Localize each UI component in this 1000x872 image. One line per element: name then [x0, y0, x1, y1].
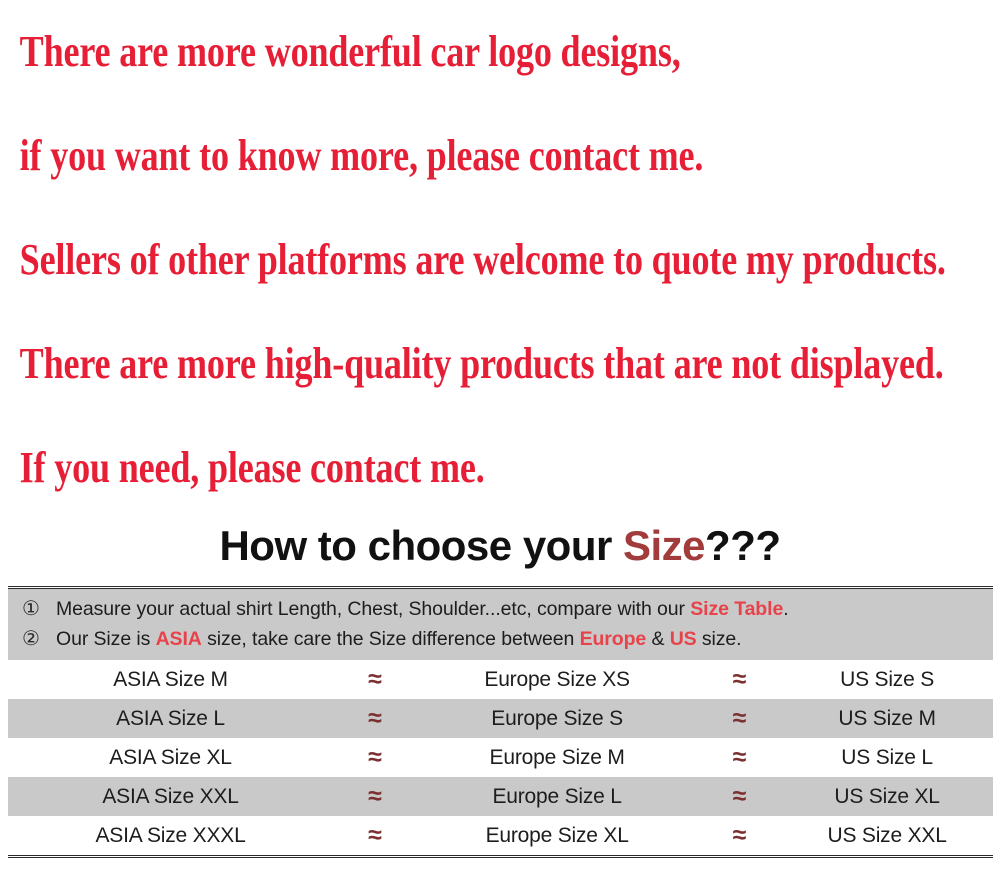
- page-title-highlight: Size: [623, 522, 705, 569]
- promo-line-5: If you need, please contact me.: [0, 416, 820, 520]
- cell-europe-size: Europe Size L: [417, 785, 698, 809]
- approximately-equal-icon: ≈: [333, 706, 417, 731]
- table-row: ASIA Size XL≈Europe Size M≈US Size L: [8, 738, 993, 777]
- emphasised-term: Size Table: [690, 598, 783, 620]
- page-title-prefix: How to choose your: [219, 522, 623, 569]
- emphasised-term: ASIA: [156, 628, 202, 650]
- cell-us-size: US Size XL: [781, 785, 993, 809]
- promo-line-1: There are more wonderful car logo design…: [0, 0, 820, 104]
- size-note-2: ② Our Size is ASIA size, take care the S…: [8, 624, 993, 654]
- size-note-2-number: ②: [22, 624, 56, 654]
- approximately-equal-icon: ≈: [333, 784, 417, 809]
- cell-europe-size: Europe Size S: [417, 707, 698, 731]
- promo-line-2: if you want to know more, please contact…: [0, 104, 820, 208]
- cell-europe-size: Europe Size M: [417, 746, 698, 770]
- size-table-rows: ASIA Size M≈Europe Size XS≈US Size SASIA…: [8, 660, 993, 855]
- cell-europe-size: Europe Size XS: [417, 668, 698, 692]
- approximately-equal-icon: ≈: [333, 745, 417, 770]
- size-note-1-text: Measure your actual shirt Length, Chest,…: [56, 594, 789, 624]
- emphasised-term: US: [670, 628, 697, 650]
- note-text-fragment: Measure your actual shirt Length, Chest,…: [56, 598, 690, 620]
- promo-line-3: Sellers of other platforms are welcome t…: [0, 208, 820, 312]
- cell-europe-size: Europe Size XL: [417, 824, 698, 848]
- note-text-fragment: &: [646, 628, 670, 650]
- size-conversion-table: ① Measure your actual shirt Length, Ches…: [8, 586, 993, 858]
- approximately-equal-icon: ≈: [697, 706, 781, 731]
- size-notes-block: ① Measure your actual shirt Length, Ches…: [8, 589, 993, 660]
- page-title: How to choose your Size???: [0, 522, 1000, 570]
- emphasised-term: Europe: [580, 628, 647, 650]
- table-row: ASIA Size L≈Europe Size S≈US Size M: [8, 699, 993, 738]
- promo-line-4: There are more high-quality products tha…: [0, 312, 820, 416]
- table-row: ASIA Size M≈Europe Size XS≈US Size S: [8, 660, 993, 699]
- approximately-equal-icon: ≈: [697, 823, 781, 848]
- table-row: ASIA Size XXL≈Europe Size L≈US Size XL: [8, 777, 993, 816]
- page-title-suffix: ???: [705, 522, 780, 569]
- note-text-fragment: size.: [697, 628, 742, 650]
- note-text-fragment: Our Size is: [56, 628, 156, 650]
- cell-asia-size: ASIA Size XXL: [8, 785, 333, 809]
- cell-asia-size: ASIA Size M: [8, 668, 333, 692]
- size-note-2-text: Our Size is ASIA size, take care the Siz…: [56, 624, 742, 654]
- approximately-equal-icon: ≈: [697, 745, 781, 770]
- cell-us-size: US Size S: [781, 668, 993, 692]
- promo-message-block: There are more wonderful car logo design…: [0, 0, 1000, 520]
- size-guide-page: There are more wonderful car logo design…: [0, 0, 1000, 872]
- cell-asia-size: ASIA Size L: [8, 707, 333, 731]
- cell-us-size: US Size L: [781, 746, 993, 770]
- note-text-fragment: size, take care the Size difference betw…: [202, 628, 580, 650]
- approximately-equal-icon: ≈: [333, 823, 417, 848]
- approximately-equal-icon: ≈: [697, 784, 781, 809]
- note-text-fragment: .: [783, 598, 788, 620]
- approximately-equal-icon: ≈: [697, 667, 781, 692]
- cell-asia-size: ASIA Size XXXL: [8, 824, 333, 848]
- approximately-equal-icon: ≈: [333, 667, 417, 692]
- table-row: ASIA Size XXXL≈Europe Size XL≈US Size XX…: [8, 816, 993, 855]
- cell-us-size: US Size M: [781, 707, 993, 731]
- cell-asia-size: ASIA Size XL: [8, 746, 333, 770]
- cell-us-size: US Size XXL: [781, 824, 993, 848]
- size-note-1-number: ①: [22, 594, 56, 624]
- size-note-1: ① Measure your actual shirt Length, Ches…: [8, 594, 993, 624]
